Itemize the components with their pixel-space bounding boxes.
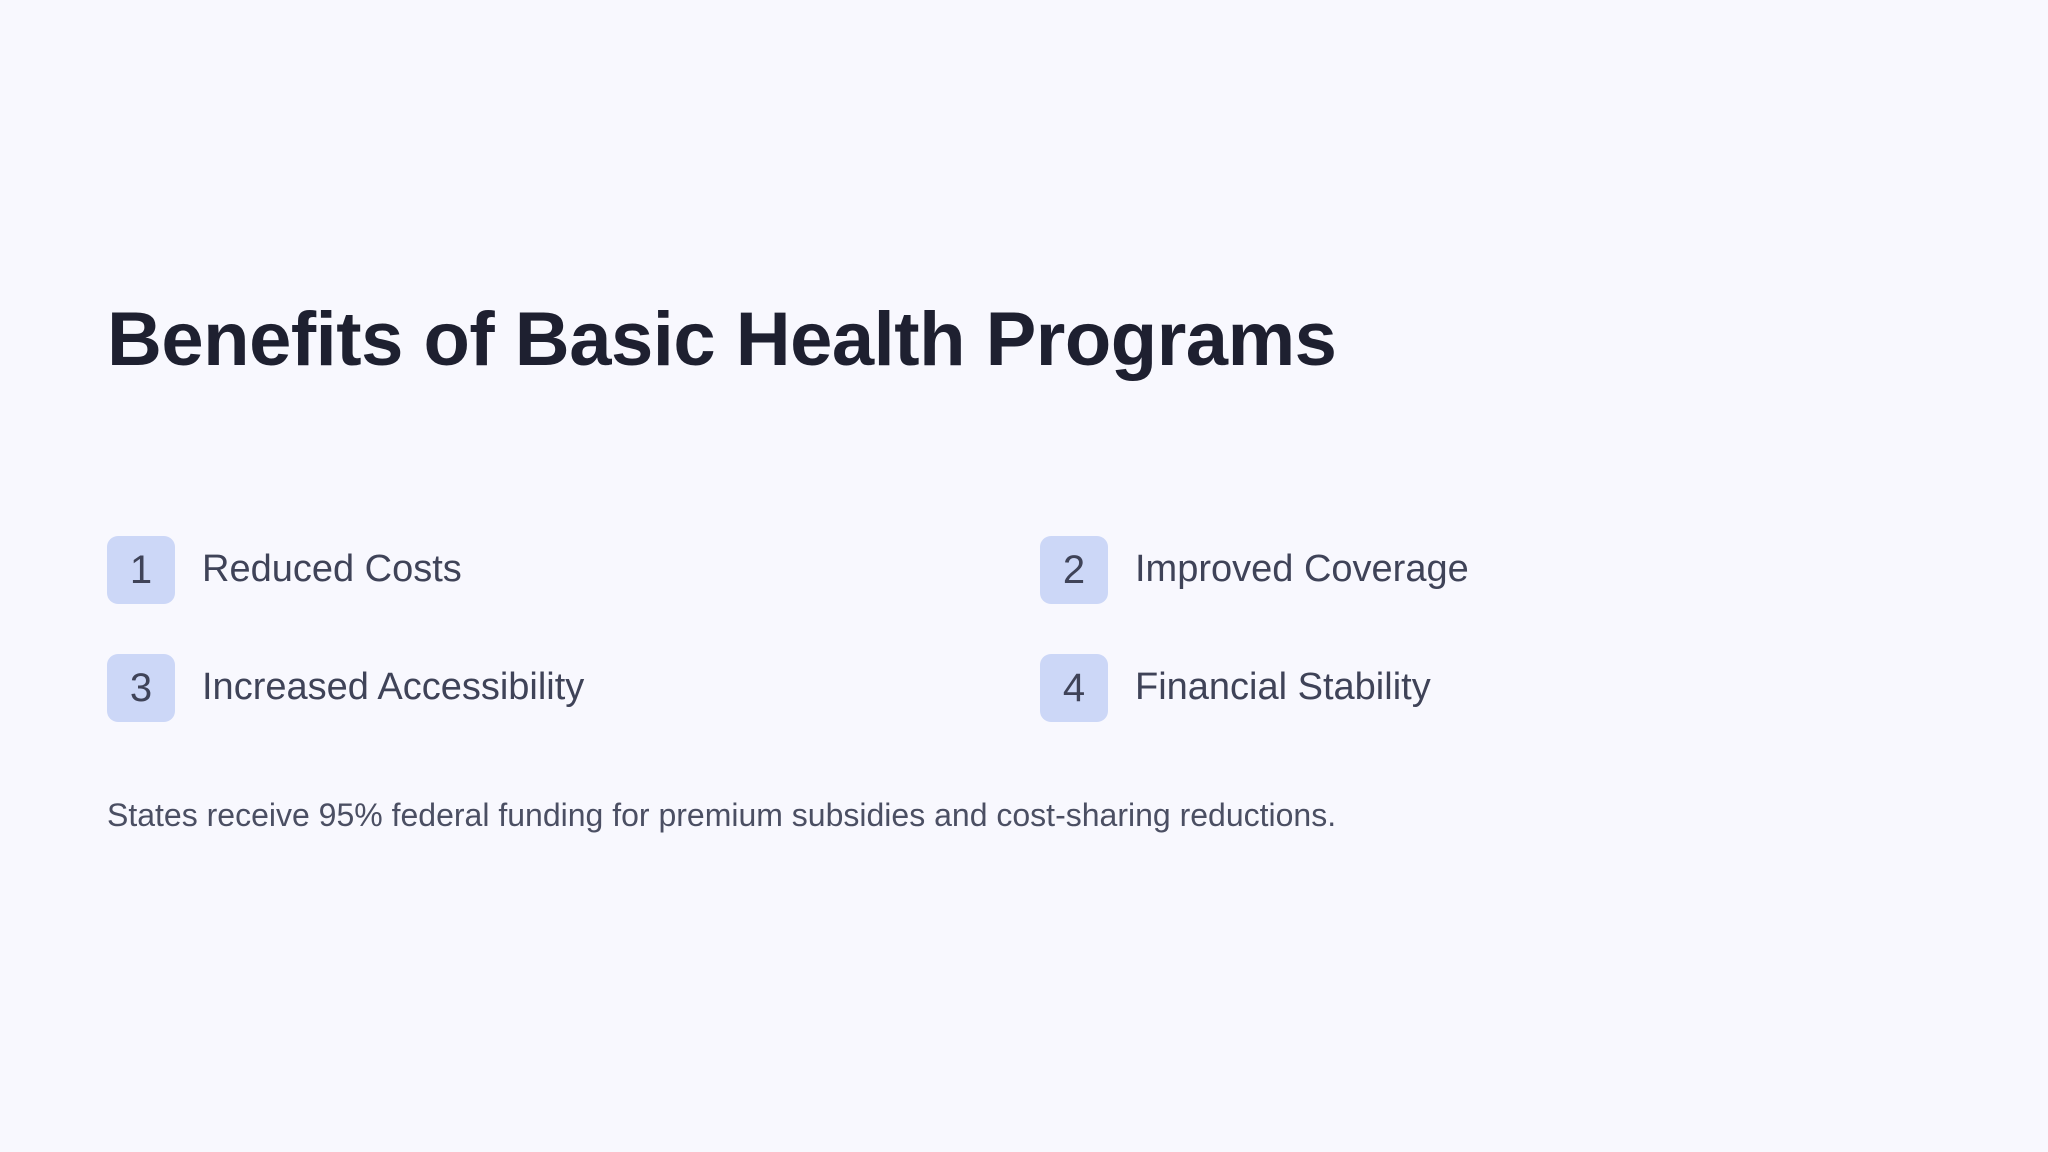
benefit-number-badge: 3 [107, 654, 175, 722]
benefit-label: Reduced Costs [202, 549, 462, 591]
benefit-item-1: 1 Reduced Costs [107, 486, 1040, 654]
benefit-number-badge: 4 [1040, 654, 1108, 722]
benefit-item-2: 2 Improved Coverage [1040, 486, 1920, 654]
benefit-item-4: 4 Financial Stability [1040, 654, 1920, 722]
benefit-number-badge: 2 [1040, 536, 1108, 604]
page-title: Benefits of Basic Health Programs [107, 300, 1937, 380]
benefit-label: Improved Coverage [1135, 549, 1469, 591]
slide-canvas: Benefits of Basic Health Programs 1 Redu… [0, 0, 2048, 1152]
benefits-grid: 1 Reduced Costs 2 Improved Coverage 3 In… [107, 486, 1937, 722]
benefit-item-3: 3 Increased Accessibility [107, 654, 1040, 722]
footnote-text: States receive 95% federal funding for p… [107, 794, 1937, 837]
slide-content: Benefits of Basic Health Programs 1 Redu… [107, 300, 1937, 837]
benefit-label: Financial Stability [1135, 667, 1431, 709]
benefit-number-badge: 1 [107, 536, 175, 604]
benefit-label: Increased Accessibility [202, 667, 584, 709]
